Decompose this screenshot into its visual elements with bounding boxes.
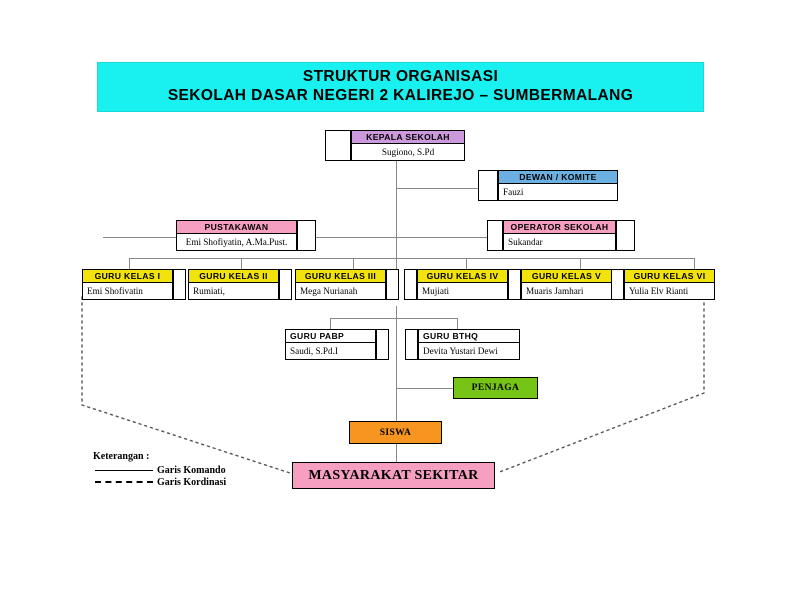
coordination-line-left bbox=[82, 297, 290, 473]
node-guru-pabp-core: GURU PABP Saudi, S.Pd.I bbox=[285, 329, 376, 360]
node-guru-kelas-1-right-cell bbox=[173, 269, 186, 300]
node-guru-kelas-3[interactable]: GURU KELAS III Mega Nurianah bbox=[295, 269, 399, 300]
node-kepala-sekolah-left-cell bbox=[325, 130, 351, 161]
node-guru-kelas-6-left-cell bbox=[611, 269, 624, 300]
node-guru-kelas-6-core: GURU KELAS VI Yulia Elv Rianti bbox=[624, 269, 715, 300]
connector-guru-drop-6 bbox=[694, 258, 695, 269]
connector-bthq-drop bbox=[457, 318, 458, 329]
node-guru-kelas-5-header: GURU KELAS V bbox=[522, 270, 611, 283]
node-dewan-komite[interactable]: DEWAN / KOMITE Fauzi bbox=[478, 170, 618, 201]
node-kepala-sekolah-header: KEPALA SEKOLAH bbox=[352, 131, 464, 144]
node-guru-kelas-2-core: GURU KELAS II Rumiati, bbox=[188, 269, 279, 300]
node-guru-kelas-5-core: GURU KELAS V Muaris Jamhari bbox=[521, 269, 612, 300]
node-guru-kelas-6-header: GURU KELAS VI bbox=[625, 270, 714, 283]
connector-pabp-drop bbox=[330, 318, 331, 329]
node-guru-kelas-4-header: GURU KELAS IV bbox=[418, 270, 507, 283]
node-guru-bthq-core: GURU BTHQ Devita Yustari Dewi bbox=[418, 329, 520, 360]
node-pustakawan-core: PUSTAKAWAN Emi Shofiyatin, A.Ma.Pust. bbox=[176, 220, 297, 251]
connector-to-operator bbox=[396, 237, 488, 238]
connector-to-dewan bbox=[396, 188, 479, 189]
node-guru-pabp[interactable]: GURU PABP Saudi, S.Pd.I bbox=[285, 329, 389, 360]
node-operator-sekolah-core: OPERATOR SEKOLAH Sukandar bbox=[503, 220, 616, 251]
node-guru-kelas-4-left-cell bbox=[404, 269, 417, 300]
node-guru-kelas-4-name: Mujiati bbox=[418, 283, 507, 299]
connector-guru-bus bbox=[129, 258, 694, 259]
legend-title: Keterangan : bbox=[93, 451, 263, 462]
node-guru-kelas-2[interactable]: GURU KELAS II Rumiati, bbox=[188, 269, 292, 300]
legend-row-kordinasi: Garis Kordinasi bbox=[93, 476, 263, 488]
node-guru-bthq[interactable]: GURU BTHQ Devita Yustari Dewi bbox=[405, 329, 520, 360]
node-dewan-komite-name: Fauzi bbox=[499, 184, 617, 200]
connector-guru-drop-1 bbox=[129, 258, 130, 269]
node-guru-kelas-2-header: GURU KELAS II bbox=[189, 270, 278, 283]
node-guru-kelas-1[interactable]: GURU KELAS I Emi Shofivatin bbox=[82, 269, 186, 300]
node-guru-kelas-5-left-cell bbox=[508, 269, 521, 300]
connector-to-penjaga bbox=[396, 388, 454, 389]
node-guru-kelas-6-name: Yulia Elv Rianti bbox=[625, 283, 714, 299]
connector-kepala-trunk bbox=[396, 161, 397, 269]
node-pustakawan-right-cell bbox=[297, 220, 316, 251]
chart-title-banner: STRUKTUR ORGANISASI SEKOLAH DASAR NEGERI… bbox=[97, 62, 704, 112]
node-pustakawan-name: Emi Shofiyatin, A.Ma.Pust. bbox=[177, 234, 296, 250]
node-pustakawan-header: PUSTAKAWAN bbox=[177, 221, 296, 234]
node-masyarakat-sekitar[interactable]: MASYARAKAT SEKITAR bbox=[292, 462, 495, 489]
node-guru-kelas-3-right-cell bbox=[386, 269, 399, 300]
node-operator-sekolah-header: OPERATOR SEKOLAH bbox=[504, 221, 615, 234]
node-dewan-komite-core: DEWAN / KOMITE Fauzi bbox=[498, 170, 618, 201]
connector-guru-drop-2 bbox=[241, 258, 242, 269]
connector-pabp-bthq-bus bbox=[330, 318, 457, 319]
node-kepala-sekolah-name: Sugiono, S.Pd bbox=[352, 144, 464, 160]
node-guru-kelas-3-core: GURU KELAS III Mega Nurianah bbox=[295, 269, 386, 300]
node-guru-pabp-name: Saudi, S.Pd.I bbox=[286, 343, 375, 359]
node-guru-kelas-1-core: GURU KELAS I Emi Shofivatin bbox=[82, 269, 173, 300]
chart-title-line-2: SEKOLAH DASAR NEGERI 2 KALIREJO – SUMBER… bbox=[168, 87, 633, 106]
node-guru-bthq-left-cell bbox=[405, 329, 418, 360]
legend-label-komando: Garis Komando bbox=[157, 465, 226, 476]
legend: Keterangan : Garis Komando Garis Kordina… bbox=[93, 451, 263, 488]
node-operator-sekolah-left-cell bbox=[487, 220, 503, 251]
node-guru-kelas-3-name: Mega Nurianah bbox=[296, 283, 385, 299]
node-operator-sekolah-right-cell bbox=[616, 220, 635, 251]
node-guru-bthq-header: GURU BTHQ bbox=[419, 330, 519, 343]
node-guru-kelas-2-right-cell bbox=[279, 269, 292, 300]
connector-guru-drop-3 bbox=[353, 258, 354, 269]
connector-siswa-trunk bbox=[396, 306, 397, 421]
node-guru-kelas-1-name: Emi Shofivatin bbox=[83, 283, 172, 299]
node-guru-pabp-right-cell bbox=[376, 329, 389, 360]
node-guru-pabp-header: GURU PABP bbox=[286, 330, 375, 343]
legend-row-komando: Garis Komando bbox=[93, 464, 263, 476]
node-dewan-komite-left-cell bbox=[478, 170, 498, 201]
node-guru-kelas-5[interactable]: GURU KELAS V Muaris Jamhari bbox=[508, 269, 612, 300]
node-operator-sekolah-name: Sukandar bbox=[504, 234, 615, 250]
node-guru-kelas-4[interactable]: GURU KELAS IV Mujiati bbox=[404, 269, 508, 300]
node-guru-kelas-3-header: GURU KELAS III bbox=[296, 270, 385, 283]
node-operator-sekolah[interactable]: OPERATOR SEKOLAH Sukandar bbox=[487, 220, 635, 251]
legend-label-kordinasi: Garis Kordinasi bbox=[157, 477, 226, 488]
node-pustakawan[interactable]: PUSTAKAWAN Emi Shofiyatin, A.Ma.Pust. bbox=[176, 220, 316, 251]
node-guru-kelas-6[interactable]: GURU KELAS VI Yulia Elv Rianti bbox=[611, 269, 715, 300]
organization-chart-page: STRUKTUR ORGANISASI SEKOLAH DASAR NEGERI… bbox=[0, 0, 800, 600]
connector-guru-drop-4 bbox=[466, 258, 467, 269]
connector-guru-drop-5 bbox=[580, 258, 581, 269]
connector-siswa-to-masyarakat bbox=[396, 444, 397, 462]
node-guru-kelas-2-name: Rumiati, bbox=[189, 283, 278, 299]
solid-line-icon bbox=[95, 464, 153, 476]
node-guru-kelas-1-header: GURU KELAS I bbox=[83, 270, 172, 283]
node-siswa[interactable]: SISWA bbox=[349, 421, 442, 444]
node-guru-bthq-name: Devita Yustari Dewi bbox=[419, 343, 519, 359]
node-kepala-sekolah[interactable]: KEPALA SEKOLAH Sugiono, S.Pd bbox=[325, 130, 465, 161]
node-penjaga[interactable]: PENJAGA bbox=[453, 377, 538, 399]
node-guru-kelas-5-name: Muaris Jamhari bbox=[522, 283, 611, 299]
chart-title-line-1: STRUKTUR ORGANISASI bbox=[303, 68, 498, 87]
dashed-line-icon bbox=[95, 476, 153, 488]
node-kepala-sekolah-core: KEPALA SEKOLAH Sugiono, S.Pd bbox=[351, 130, 465, 161]
node-guru-kelas-4-core: GURU KELAS IV Mujiati bbox=[417, 269, 508, 300]
node-dewan-komite-header: DEWAN / KOMITE bbox=[499, 171, 617, 184]
